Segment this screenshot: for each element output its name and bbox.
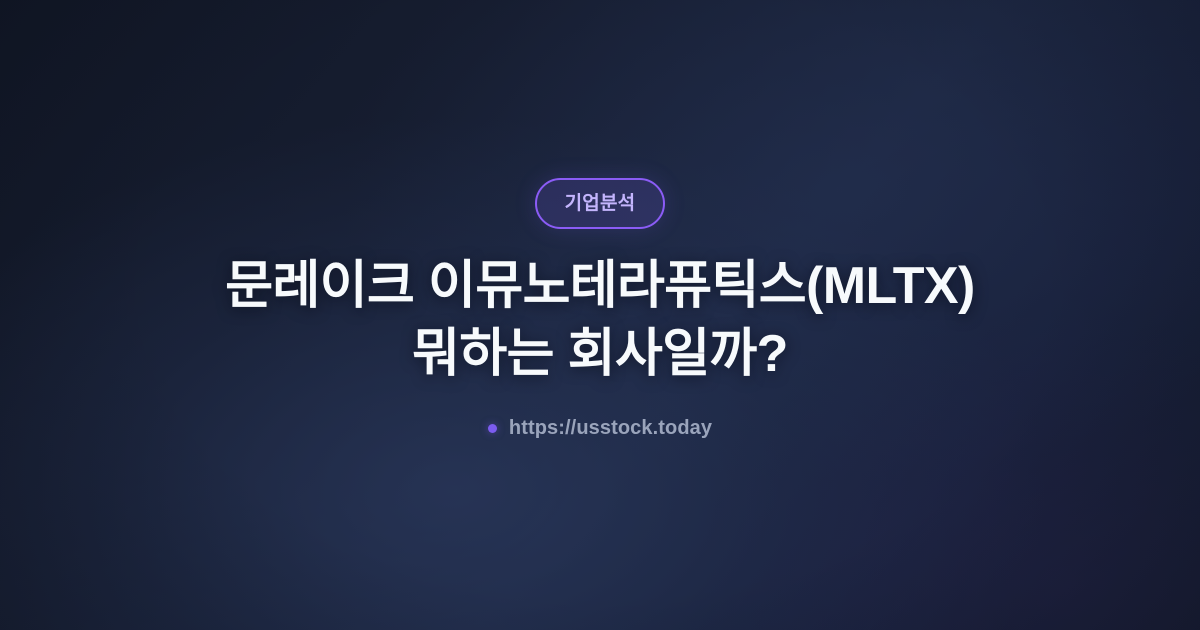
site-url: https://usstock.today [488,418,712,438]
page-title-line-2: 뭐하는 회사일까? [225,321,974,389]
og-share-card: 기업분석 문레이크 이뮤노테라퓨틱스(MLTX) 뭐하는 회사일까? https… [0,0,1200,630]
page-title-line-1: 문레이크 이뮤노테라퓨틱스(MLTX) [225,253,974,321]
category-badge: 기업분석 [535,178,666,229]
bullet-dot-icon [488,424,497,433]
category-badge-label: 기업분석 [565,194,636,213]
page-title: 문레이크 이뮤노테라퓨틱스(MLTX) 뭐하는 회사일까? [225,253,974,388]
site-url-text: https://usstock.today [509,418,712,438]
card-content: 기업분석 문레이크 이뮤노테라퓨틱스(MLTX) 뭐하는 회사일까? https… [0,178,1200,438]
